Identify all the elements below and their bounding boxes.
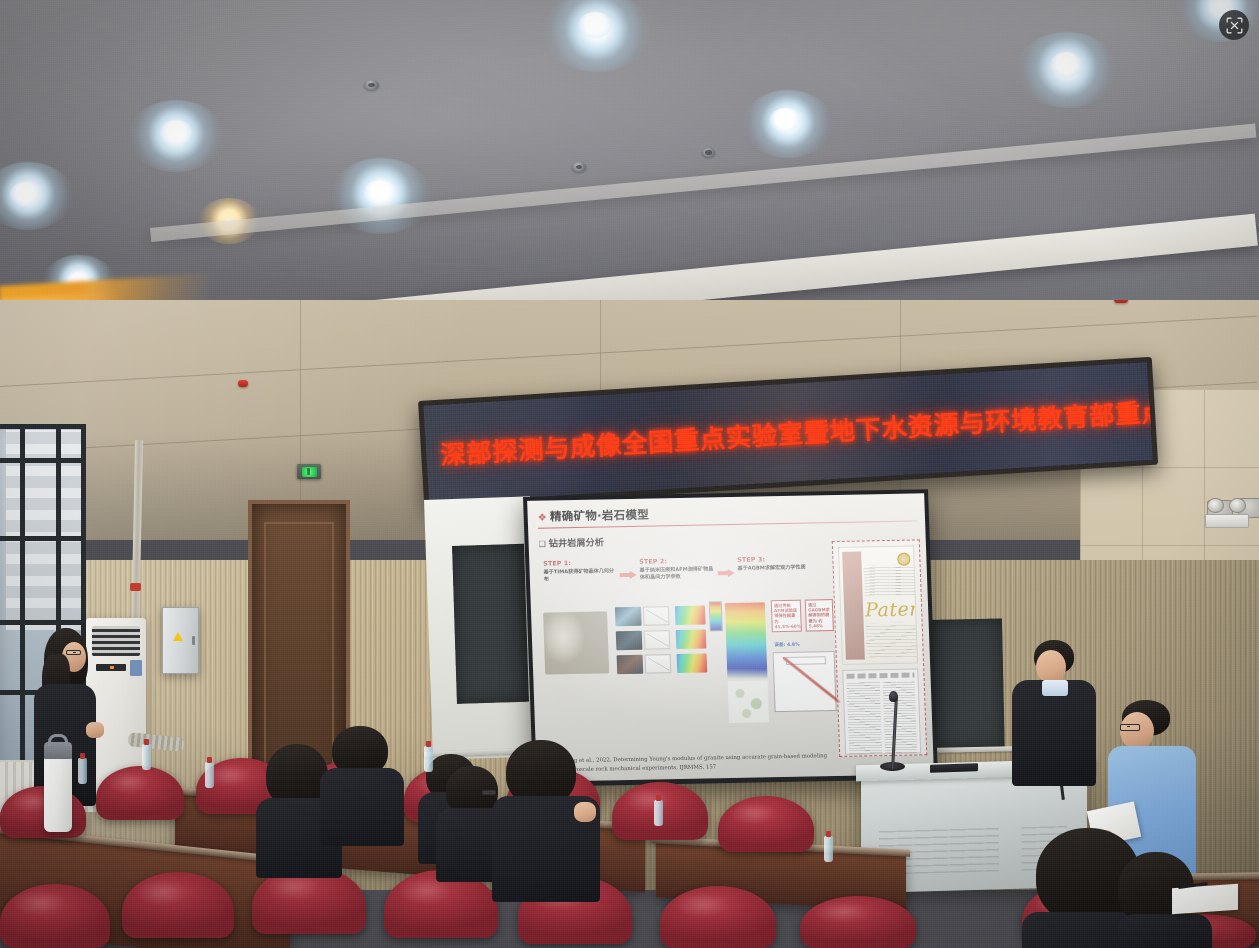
patent-word: Patent [865,598,918,621]
projection-screen: ❖精确矿物·岩石模型 ❑钻井岩屑分析 STEP 1: 基于TIMA获得矿物晶体几… [527,493,934,781]
ceiling-downlight-core [578,12,612,38]
audience-5 [492,740,602,900]
document-columns [847,680,918,753]
water-bottle [205,762,214,788]
sem-image [617,655,644,674]
emergency-twin-light [1205,498,1249,528]
patent-document-image [842,668,921,754]
presenter-left-hand [86,722,104,738]
patent-certificate-image: Patent [838,545,918,664]
document-header-lines [846,672,914,678]
electrical-warning-icon [173,632,183,641]
ceiling-downlight-core [160,120,192,146]
ceiling-downlight-core [364,180,396,206]
step-body: 基于AGBM求解宏观力学性质 [738,564,812,572]
presenter-right-face [1120,712,1154,750]
audience-hand [574,802,596,822]
presenter-podium-collar [1042,680,1068,696]
water-bottle [824,836,833,862]
indentation-curve-plot [645,654,672,673]
slide-figure-group: 通过传统AFM试验获得弹性模量为 41.5%-60% 通过GAGBM求解得到的模… [543,599,834,734]
slide-callout: 通过GAGBM求解得到的模量为 约5.48% [805,599,834,632]
certificate-text-lines [866,622,918,657]
patent-certificate: Patent [832,539,928,757]
stress-field-heatmap [725,602,768,679]
presenter-right-glasses [1120,724,1140,731]
sprinkler-head [572,162,586,172]
grain-structure-image [728,680,769,723]
white-thermos-flask [44,756,72,832]
ceiling-downlight-core [10,182,40,206]
panel-handle[interactable] [192,636,195,645]
thermos-handle [48,734,68,746]
lecture-hall-photo: 深部探测与成像全国重点实验室暨地下水资源与环境教育部重点实验室青年发展论坛 [0,0,1259,948]
slide-steps: STEP 1: 基于TIMA获得矿物晶体几何分布 STEP 2: 基于纳米压痕和… [543,555,812,594]
audience-torso [320,768,404,846]
electrical-distribution-panel[interactable] [162,607,199,674]
water-bottle [654,800,663,826]
chalkboard-panel [928,618,1005,750]
sprinkler-head [702,148,715,157]
rock-sample-photo [543,611,609,674]
sem-image [615,607,642,626]
microphone-head [889,691,898,702]
podium-device [930,763,978,773]
slide-callout: 通过传统AFM试验获得弹性模量为 41.5%-60% [771,600,802,633]
presentation-slide: ❖精确矿物·岩石模型 ❑钻井岩屑分析 STEP 1: 基于TIMA获得矿物晶体几… [527,493,934,781]
slide-annotation: 误差: 4.8% [774,642,800,648]
slide-step: STEP 1: 基于TIMA获得矿物晶体几何分布 [543,559,618,583]
step-heading: STEP 3: [737,555,811,563]
presenter-podium-face [1036,650,1066,684]
emergency-lamp-head [1207,498,1224,513]
emergency-light-body [1205,514,1249,528]
air-conditioner-label [130,660,142,676]
certificate-text-lines [864,564,918,595]
modulus-comparison-chart [773,651,837,712]
step-arrow-icon [718,569,735,577]
document-column [882,680,917,753]
presenter-left-glasses [66,650,81,655]
chart-legend-box [786,656,826,665]
indentation-curve-plot [643,606,670,625]
colorbar-legend [709,601,723,631]
scan-expand-icon[interactable] [1219,10,1249,40]
audience-torso [1118,914,1212,948]
presenter-podium [1012,640,1104,790]
water-bottle [78,758,87,784]
step-heading: STEP 1: [543,559,617,567]
step-body: 基于纳米压痕和AFM测得矿物晶体和晶间力学参数 [640,566,714,581]
mineral-map-heatmap [675,606,706,626]
indentation-curve-plot [644,630,671,649]
ceiling-downlight-core [770,108,800,132]
water-bottle [424,746,433,772]
pipe-valve-marker [130,583,141,591]
slide-step: STEP 3: 基于AGBM求解宏观力学性质 [737,555,812,572]
slide-step: STEP 2: 基于纳米压痕和AFM测得矿物晶体和晶间力学参数 [639,557,714,581]
sem-image [616,631,643,650]
water-bottle [142,744,151,770]
exit-running-man-icon [302,467,317,477]
ceiling-downlight-core [1050,52,1082,78]
emergency-exit-sign [297,464,321,479]
sprinkler-head [364,80,379,90]
slide-title-bullet-icon: ❖ [538,513,548,524]
certificate-side-band [842,552,865,660]
step-heading: STEP 2: [639,557,713,565]
slide-subtitle: 钻井岩屑分析 [549,538,605,550]
wall-indicator-light [1114,300,1128,303]
mineral-map-heatmap [676,629,707,649]
document-column [847,681,882,754]
wall-indicator-light [238,380,248,387]
chalkboard-panel [452,544,529,704]
emergency-lamp-head [1229,498,1246,513]
step-arrow-icon [620,571,637,579]
slide-title: 精确矿物·岩石模型 [550,508,650,524]
step-body: 基于TIMA获得矿物晶体几何分布 [544,568,618,583]
audience-2 [320,726,406,844]
mineral-map-heatmap [677,653,708,673]
slide-subtitle-bullet-icon: ❑ [539,540,546,549]
